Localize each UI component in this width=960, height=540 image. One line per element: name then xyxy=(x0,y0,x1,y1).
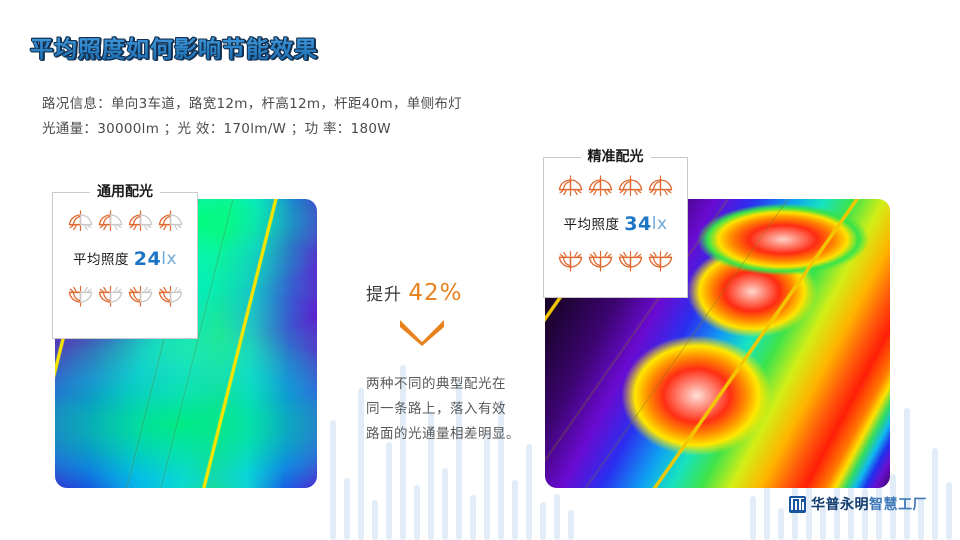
general-avg-value: 24 xyxy=(134,248,161,270)
background-bar xyxy=(358,388,364,540)
lamp-icon xyxy=(647,247,674,272)
brand-main: 华普永明 xyxy=(811,497,869,513)
precise-avg-label: 平均照度 xyxy=(563,217,619,233)
lamp-icon xyxy=(157,210,184,235)
precise-average-illuminance: 平均照度 34lx xyxy=(544,213,687,235)
page-title: 平均照度如何影响节能效果 xyxy=(30,30,318,64)
gain-value: 42% xyxy=(408,280,462,306)
background-bar xyxy=(330,420,336,540)
background-bar xyxy=(526,444,532,540)
lamp-icon xyxy=(157,282,184,307)
road-condition-info: 路况信息：单向3车道，路宽12m，杆高12m，杆距40m，单侧布灯 光通量：30… xyxy=(42,92,462,142)
lamp-icon xyxy=(127,282,154,307)
background-bar xyxy=(778,508,784,540)
background-bar xyxy=(372,500,378,540)
background-bar xyxy=(442,468,448,540)
background-bar xyxy=(344,478,350,540)
lamp-icon xyxy=(557,247,584,272)
gain-label: 提升 xyxy=(366,285,402,305)
background-bar xyxy=(568,510,574,540)
chevron-down-icon xyxy=(400,320,526,350)
precise-card-title: 精准配光 xyxy=(581,147,651,167)
background-bar xyxy=(750,496,756,540)
precise-avg-unit: lx xyxy=(652,214,668,234)
general-card-title: 通用配光 xyxy=(90,182,160,202)
general-avg-unit: lx xyxy=(161,249,177,269)
info-line-2: 光通量：30000lm ；光 效：170lm/W ；功 率：180W xyxy=(42,117,462,142)
lamp-icon xyxy=(97,210,124,235)
slide-canvas: 平均照度如何影响节能效果 路况信息：单向3车道，路宽12m，杆高12m，杆距40… xyxy=(0,0,960,540)
background-bar xyxy=(946,482,952,540)
background-bar xyxy=(386,442,392,540)
precise-lamp-row-top xyxy=(544,175,687,200)
lamp-icon xyxy=(647,175,674,200)
brand-sub: 智慧工厂 xyxy=(869,497,927,513)
gain-statement: 提升 42% xyxy=(366,280,526,306)
general-avg-label: 平均照度 xyxy=(73,252,129,268)
general-lamp-row-bottom xyxy=(53,282,197,307)
background-bar xyxy=(512,480,518,540)
lamp-icon xyxy=(587,175,614,200)
precise-distribution-card: 精准配光 平均照度 34lx xyxy=(543,157,688,298)
desc-line-2: 同一条路上，落入有效 xyxy=(366,397,526,422)
info-line-1: 路况信息：单向3车道，路宽12m，杆高12m，杆距40m，单侧布灯 xyxy=(42,92,462,117)
general-average-illuminance: 平均照度 24lx xyxy=(53,248,197,270)
comparison-description: 两种不同的典型配光在 同一条路上，落入有效 路面的光通量相差明显。 xyxy=(366,372,526,447)
comparison-summary: 提升 42% 两种不同的典型配光在 同一条路上，落入有效 路面的光通量相差明显。 xyxy=(366,280,526,447)
background-bar xyxy=(554,494,560,540)
background-bar xyxy=(470,495,476,540)
lamp-icon xyxy=(67,282,94,307)
desc-line-3: 路面的光通量相差明显。 xyxy=(366,422,526,447)
background-bar xyxy=(904,408,910,540)
lamp-icon xyxy=(97,282,124,307)
background-bar xyxy=(414,485,420,540)
lamp-icon xyxy=(617,175,644,200)
background-bar xyxy=(540,502,546,540)
brand-logo: 华普永明智慧工厂 xyxy=(789,494,927,514)
desc-line-1: 两种不同的典型配光在 xyxy=(366,372,526,397)
lamp-icon xyxy=(67,210,94,235)
lamp-icon xyxy=(127,210,154,235)
precise-avg-value: 34 xyxy=(624,213,651,235)
lamp-icon xyxy=(587,247,614,272)
background-bar xyxy=(932,448,938,540)
lamp-icon xyxy=(557,175,584,200)
general-distribution-card: 通用配光 平均照度 24lx xyxy=(52,192,198,339)
precise-lamp-row-bottom xyxy=(544,247,687,272)
brand-name: 华普永明智慧工厂 xyxy=(811,494,927,514)
general-lamp-row-top xyxy=(53,210,197,235)
hpym-logo-icon xyxy=(789,496,806,513)
lamp-icon xyxy=(617,247,644,272)
